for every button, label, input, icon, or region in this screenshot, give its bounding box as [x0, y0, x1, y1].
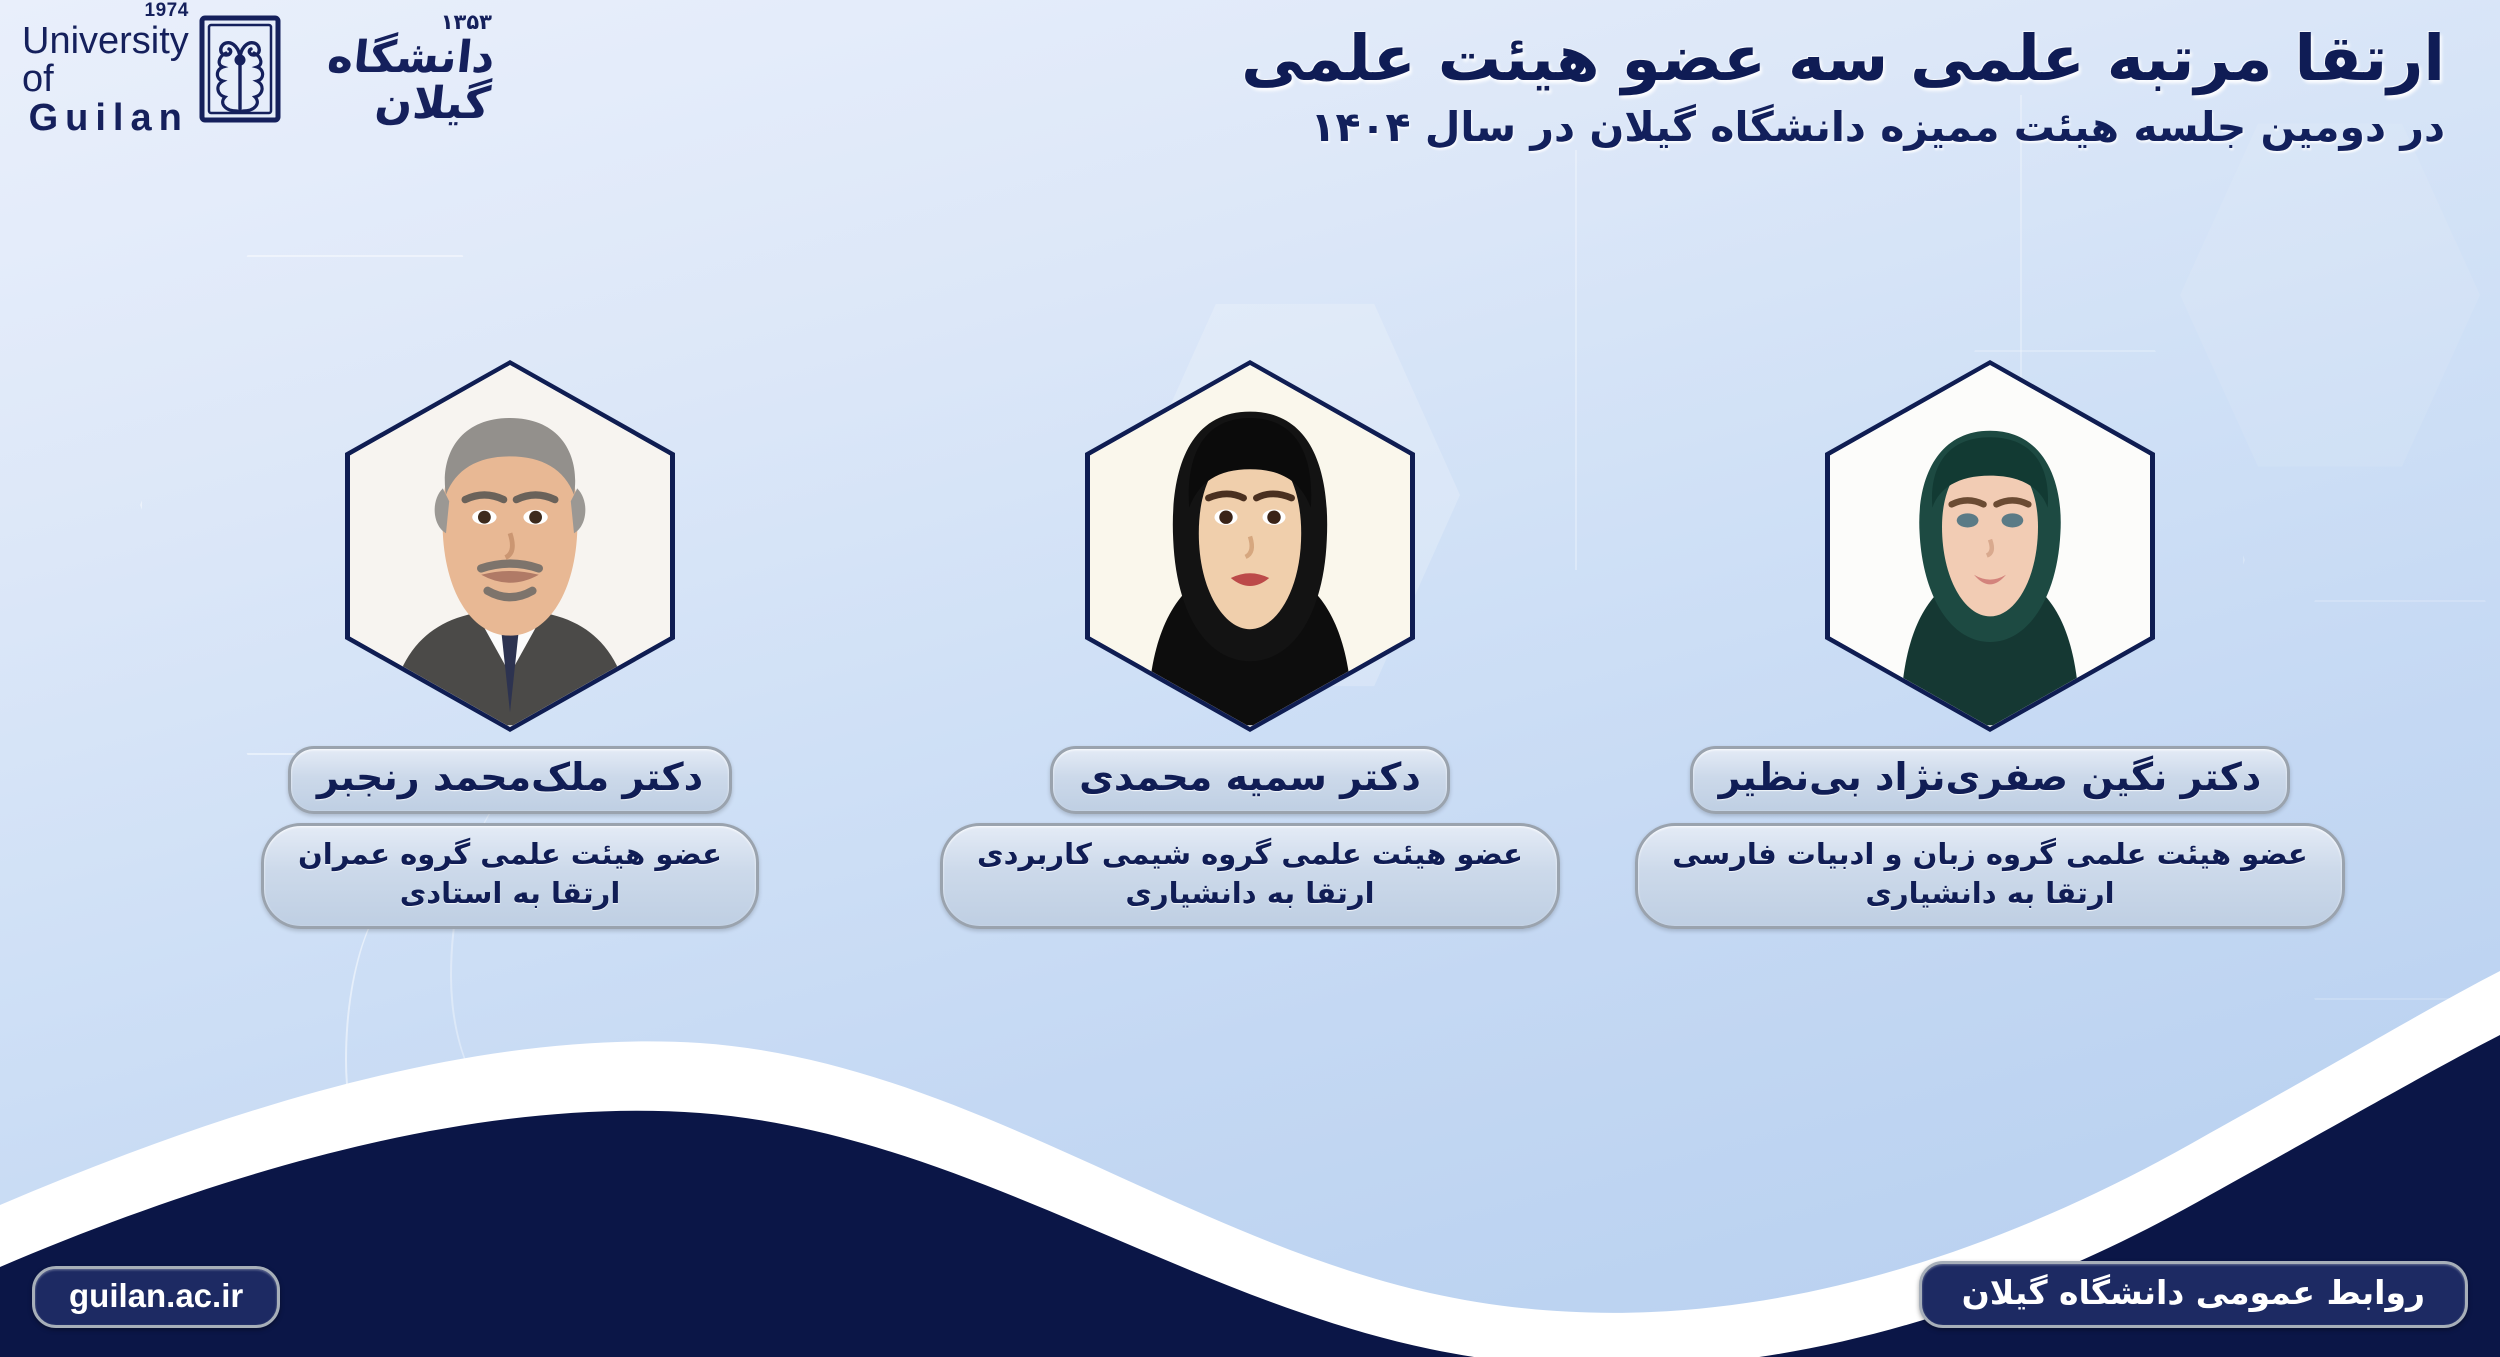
page-title: ارتقا مرتبه علمی سه عضو هیئت علمی — [1095, 22, 2445, 96]
logo-en-line1: University of — [22, 22, 189, 98]
public-relations-label: روابط عمومی دانشگاه گیلان — [1962, 1273, 2425, 1312]
logo-fa-year: ۱۳۵۳ — [441, 10, 492, 34]
website-label: guilan.ac.ir — [69, 1277, 243, 1315]
public-relations-chip: روابط عمومی دانشگاه گیلان — [1919, 1261, 2468, 1328]
person-promotion: ارتقا به دانشیاری — [977, 874, 1523, 913]
portrait-photo-icon — [1090, 365, 1410, 727]
person-card: دکتر ملک‌محمد رنجبر عضو هیئت علمی گروه ع… — [215, 360, 805, 929]
person-name: دکتر ملک‌محمد رنجبر — [288, 746, 732, 814]
person-info: عضو هیئت علمی گروه زبان و ادبیات فارسی ا… — [1635, 823, 2344, 929]
logo-persian-text: ۱۳۵۳ دانشگاه گیلان — [291, 10, 492, 127]
logo-fa-name: دانشگاه گیلان — [286, 35, 497, 127]
person-card: دکتر سمیه محمدی عضو هیئت علمی گروه شیمی … — [955, 360, 1545, 929]
person-affiliation: عضو هیئت علمی گروه عمران — [298, 835, 722, 874]
person-promotion: ارتقا به استادی — [298, 874, 722, 913]
poster-canvas: 1974 University of Guilan ۱۳۵۳ دانشگاه گ… — [0, 0, 2500, 1357]
portrait-photo-icon — [350, 365, 670, 727]
person-info: عضو هیئت علمی گروه شیمی کاربردی ارتقا به… — [940, 823, 1560, 929]
university-logo: 1974 University of Guilan ۱۳۵۳ دانشگاه گ… — [22, 6, 492, 131]
guilan-university-emblem-icon — [199, 15, 281, 123]
header-title-block: ارتقا مرتبه علمی سه عضو هیئت علمی در دوم… — [1095, 22, 2445, 154]
person-promotion: ارتقا به دانشیاری — [1672, 874, 2307, 913]
person-name: دکتر سمیه محمدی — [1050, 746, 1450, 814]
logo-en-line2: Guilan — [29, 99, 189, 137]
logo-en-year: 1974 — [145, 1, 189, 20]
logo-english-text: 1974 University of Guilan — [22, 1, 189, 137]
person-name: دکتر نگین صفری‌نژاد بی‌نظیر — [1690, 746, 2291, 814]
people-list: دکتر نگین صفری‌نژاد بی‌نظیر عضو هیئت علم… — [0, 360, 2500, 929]
photo-frame — [345, 360, 675, 732]
person-info: عضو هیئت علمی گروه عمران ارتقا به استادی — [261, 823, 759, 929]
portrait-photo-icon — [1830, 365, 2150, 727]
person-card: دکتر نگین صفری‌نژاد بی‌نظیر عضو هیئت علم… — [1695, 360, 2285, 929]
website-chip[interactable]: guilan.ac.ir — [32, 1266, 280, 1328]
person-affiliation: عضو هیئت علمی گروه زبان و ادبیات فارسی — [1672, 835, 2307, 874]
photo-frame — [1085, 360, 1415, 732]
photo-frame — [1825, 360, 2155, 732]
person-affiliation: عضو هیئت علمی گروه شیمی کاربردی — [977, 835, 1523, 874]
page-subtitle: در دومین جلسه هیئت ممیزه دانشگاه گیلان د… — [1095, 102, 2445, 153]
